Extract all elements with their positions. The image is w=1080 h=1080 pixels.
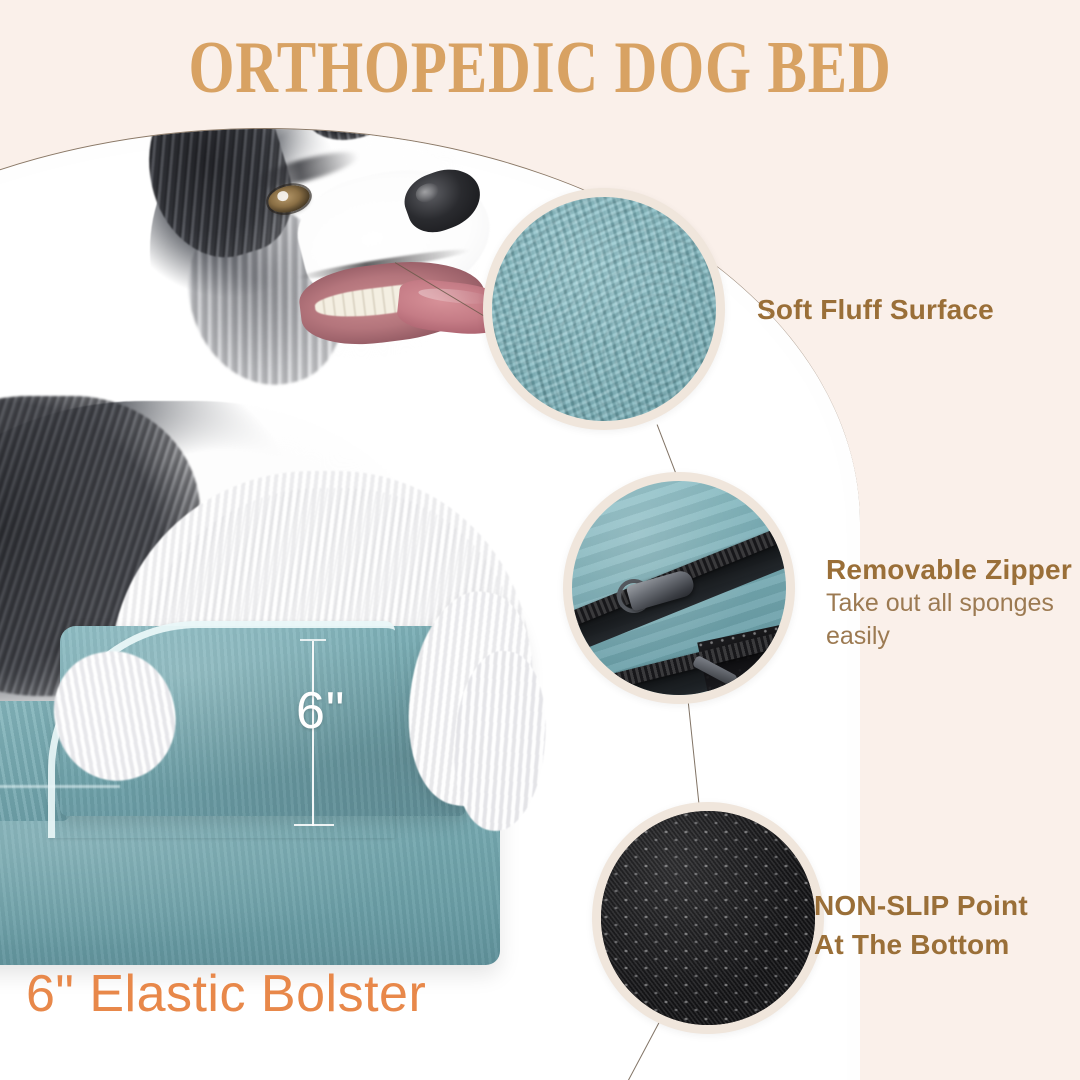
- callout-label-nonslip: NON-SLIP Point At The Bottom: [814, 888, 1028, 966]
- callout-circle-nonslip[interactable]: [592, 802, 824, 1034]
- callout-heading-zipper: Removable Zipper: [826, 552, 1080, 587]
- dog-paw-left: [43, 640, 187, 792]
- callout-label-zipper: Removable Zipper Take out all sponges ea…: [826, 552, 1080, 652]
- callout-heading-nonslip-line2: At The Bottom: [814, 927, 1028, 962]
- non-slip-dots-swatch: [601, 811, 815, 1025]
- callout-heading-nonslip: NON-SLIP Point: [814, 888, 1028, 923]
- callout-circle-fluff[interactable]: [483, 188, 725, 430]
- zipper-closeup-swatch: [572, 481, 786, 695]
- product-caption: 6" Elastic Bolster: [26, 968, 426, 1020]
- callout-subtext-zipper: Take out all sponges easily: [826, 587, 1080, 652]
- callout-heading-fluff: Soft Fluff Surface: [757, 292, 994, 327]
- infographic-canvas: ORTHOPEDIC DOG BED: [0, 0, 1080, 1080]
- fluff-texture-swatch: [492, 197, 716, 421]
- callout-circle-zipper[interactable]: [563, 472, 795, 704]
- page-title: ORTHOPEDIC DOG BED: [108, 26, 972, 111]
- callout-label-fluff: Soft Fluff Surface: [757, 292, 994, 327]
